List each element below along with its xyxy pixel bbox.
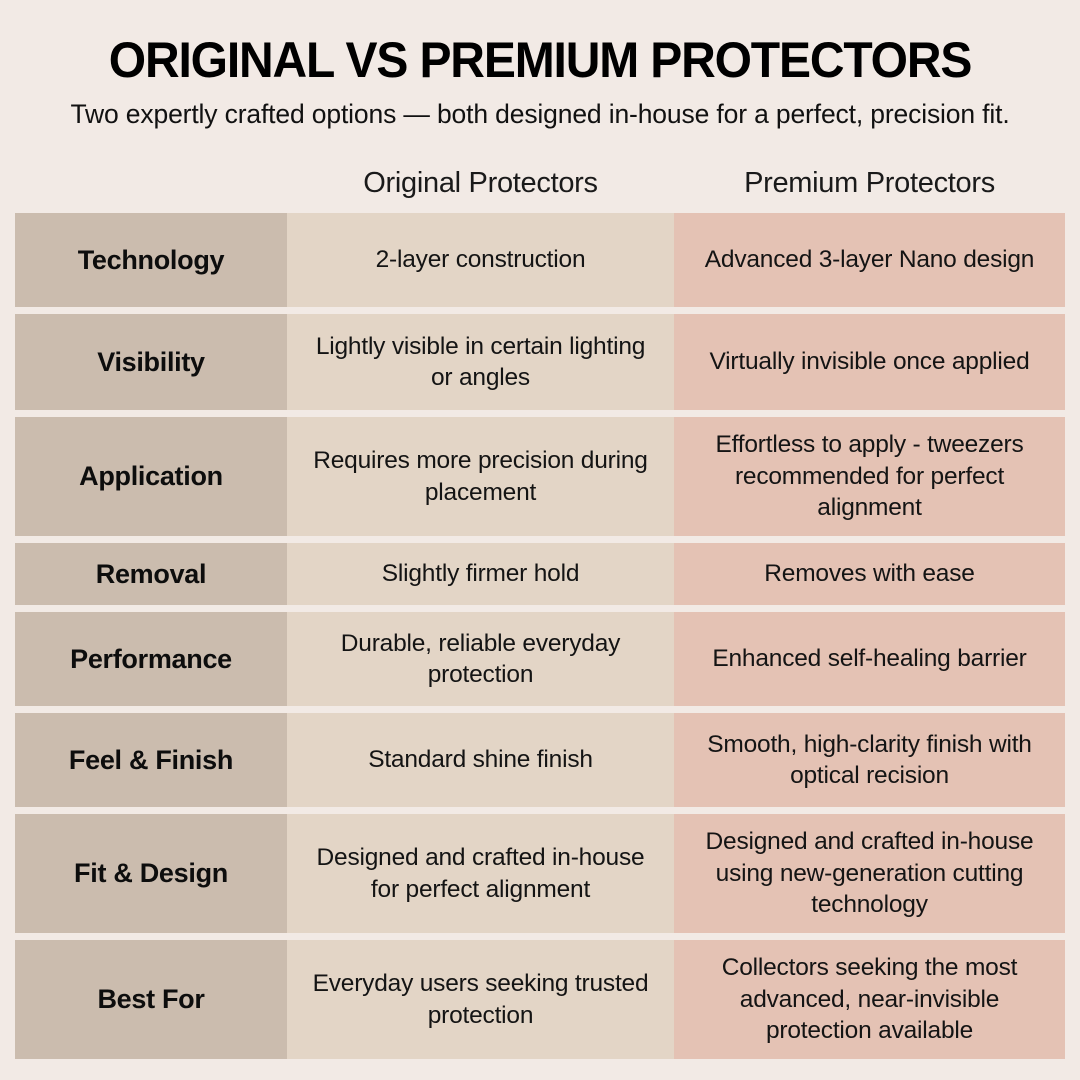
table-cell-original-text: Slightly firmer hold	[305, 558, 656, 589]
column-header-spacer	[15, 168, 287, 212]
table-cell-premium-text: Smooth, high-clarity finish with optical…	[690, 729, 1049, 792]
comparison-infographic: ORIGINAL VS PREMIUM PROTECTORS Two exper…	[0, 0, 1080, 1080]
table-cell-feature: Performance	[15, 612, 287, 706]
table-cell-premium-text: Advanced 3-layer Nano design	[690, 244, 1049, 275]
table-cell-original: Everyday users seeking trusted protectio…	[287, 940, 674, 1059]
column-headers-row: Original Protectors Premium Protectors	[15, 168, 1065, 212]
table-row: Best ForEveryday users seeking trusted p…	[15, 940, 1065, 1059]
table-cell-feature-text: Visibility	[27, 347, 275, 378]
table-cell-feature: Feel & Finish	[15, 713, 287, 807]
table-cell-original: 2-layer construction	[287, 213, 674, 307]
table-row: ApplicationRequires more precision durin…	[15, 417, 1065, 536]
table-cell-premium-text: Removes with ease	[690, 558, 1049, 589]
table-cell-original: Designed and crafted in-house for perfec…	[287, 814, 674, 933]
table-cell-feature: Removal	[15, 543, 287, 605]
table-cell-premium-text: Collectors seeking the most advanced, ne…	[690, 952, 1049, 1046]
table-cell-feature: Technology	[15, 213, 287, 307]
page-title: ORIGINAL VS PREMIUM PROTECTORS	[39, 0, 1041, 87]
table-cell-premium-text: Effortless to apply - tweezers recommend…	[690, 429, 1049, 523]
table-cell-feature-text: Technology	[27, 245, 275, 276]
table-cell-original: Slightly firmer hold	[287, 543, 674, 605]
table-cell-original-text: Designed and crafted in-house for perfec…	[305, 842, 656, 905]
table-cell-feature: Best For	[15, 940, 287, 1059]
table-row: RemovalSlightly firmer holdRemoves with …	[15, 543, 1065, 605]
table-cell-premium: Designed and crafted in-house using new-…	[674, 814, 1065, 933]
table-cell-premium: Virtually invisible once applied	[674, 314, 1065, 410]
table-cell-original-text: 2-layer construction	[305, 244, 656, 275]
table-cell-feature-text: Performance	[27, 644, 275, 675]
table-row: VisibilityLightly visible in certain lig…	[15, 314, 1065, 410]
table-cell-premium-text: Designed and crafted in-house using new-…	[690, 826, 1049, 920]
table-cell-original: Durable, reliable everyday protection	[287, 612, 674, 706]
page-subtitle: Two expertly crafted options — both desi…	[60, 87, 1020, 132]
table-cell-original: Lightly visible in certain lighting or a…	[287, 314, 674, 410]
table-cell-original-text: Durable, reliable everyday protection	[305, 628, 656, 691]
column-header-premium: Premium Protectors	[674, 168, 1065, 212]
table-cell-feature: Application	[15, 417, 287, 536]
table-cell-premium: Collectors seeking the most advanced, ne…	[674, 940, 1065, 1059]
table-cell-original-text: Requires more precision during placement	[305, 445, 656, 508]
table-cell-premium: Smooth, high-clarity finish with optical…	[674, 713, 1065, 807]
table-cell-feature-text: Best For	[27, 984, 275, 1015]
table-cell-original: Requires more precision during placement	[287, 417, 674, 536]
table-row: PerformanceDurable, reliable everyday pr…	[15, 612, 1065, 706]
table-cell-original: Standard shine finish	[287, 713, 674, 807]
comparison-table: Technology2-layer constructionAdvanced 3…	[15, 213, 1065, 1059]
table-cell-premium: Enhanced self-healing barrier	[674, 612, 1065, 706]
table-cell-premium: Removes with ease	[674, 543, 1065, 605]
table-row: Feel & FinishStandard shine finishSmooth…	[15, 713, 1065, 807]
table-cell-feature: Fit & Design	[15, 814, 287, 933]
table-cell-premium-text: Enhanced self-healing barrier	[690, 643, 1049, 674]
table-cell-feature-text: Removal	[27, 559, 275, 590]
header: ORIGINAL VS PREMIUM PROTECTORS Two exper…	[0, 0, 1080, 132]
table-cell-feature-text: Fit & Design	[27, 858, 275, 889]
table-cell-original-text: Lightly visible in certain lighting or a…	[305, 331, 656, 394]
table-cell-feature-text: Feel & Finish	[27, 745, 275, 776]
table-cell-original-text: Everyday users seeking trusted protectio…	[305, 968, 656, 1031]
table-row: Fit & DesignDesigned and crafted in-hous…	[15, 814, 1065, 933]
table-cell-feature-text: Application	[27, 461, 275, 492]
table-row: Technology2-layer constructionAdvanced 3…	[15, 213, 1065, 307]
table-cell-premium: Effortless to apply - tweezers recommend…	[674, 417, 1065, 536]
table-cell-original-text: Standard shine finish	[305, 744, 656, 775]
table-cell-premium: Advanced 3-layer Nano design	[674, 213, 1065, 307]
column-header-original: Original Protectors	[287, 168, 674, 212]
table-cell-premium-text: Virtually invisible once applied	[690, 346, 1049, 377]
table-cell-feature: Visibility	[15, 314, 287, 410]
